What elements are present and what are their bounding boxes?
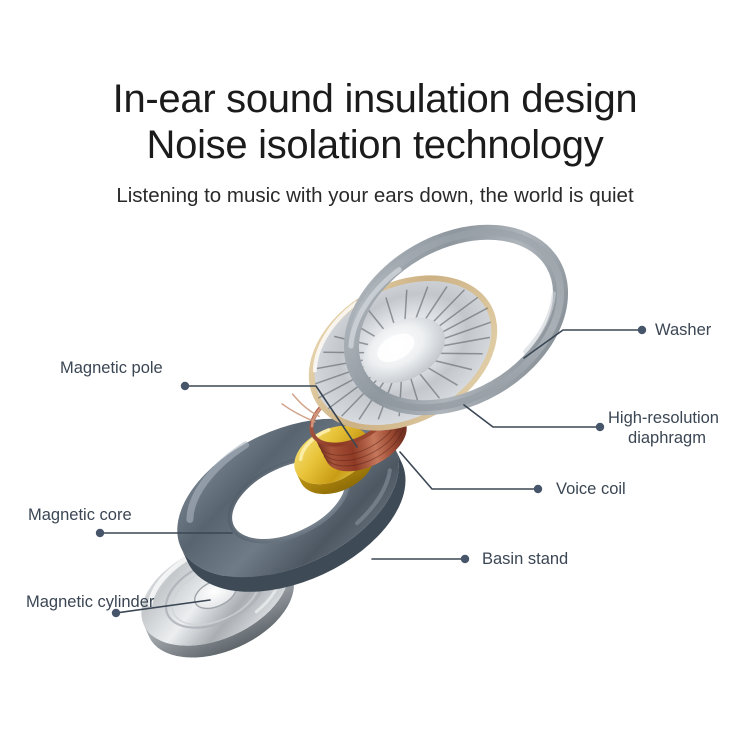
label-magnetic-cylinder: Magnetic cylinder xyxy=(26,592,154,612)
label-high-resolution-diaphragm-line2: diaphragm xyxy=(608,428,726,448)
label-magnetic-pole: Magnetic pole xyxy=(60,358,163,378)
label-high-resolution-diaphragm-line1: High-resolution xyxy=(608,408,738,428)
label-basin-stand: Basin stand xyxy=(482,549,568,569)
label-washer: Washer xyxy=(655,320,711,340)
leader-line-voice-coil xyxy=(400,452,538,489)
page-root: In-ear sound insulation design Noise iso… xyxy=(0,0,750,750)
leader-dot-magnetic-pole xyxy=(181,382,189,390)
leader-line-diaphragm xyxy=(464,405,600,427)
leader-dot-voice-coil xyxy=(534,485,542,493)
leader-dot-washer xyxy=(638,326,646,334)
leader-dot-diaphragm xyxy=(596,423,604,431)
leader-dot-magnetic-core xyxy=(96,529,104,537)
label-high-resolution-diaphragm: High-resolution diaphragm xyxy=(608,408,738,448)
label-magnetic-core: Magnetic core xyxy=(28,505,132,525)
leader-dot-basin-stand xyxy=(461,555,469,563)
label-voice-coil: Voice coil xyxy=(556,479,626,499)
